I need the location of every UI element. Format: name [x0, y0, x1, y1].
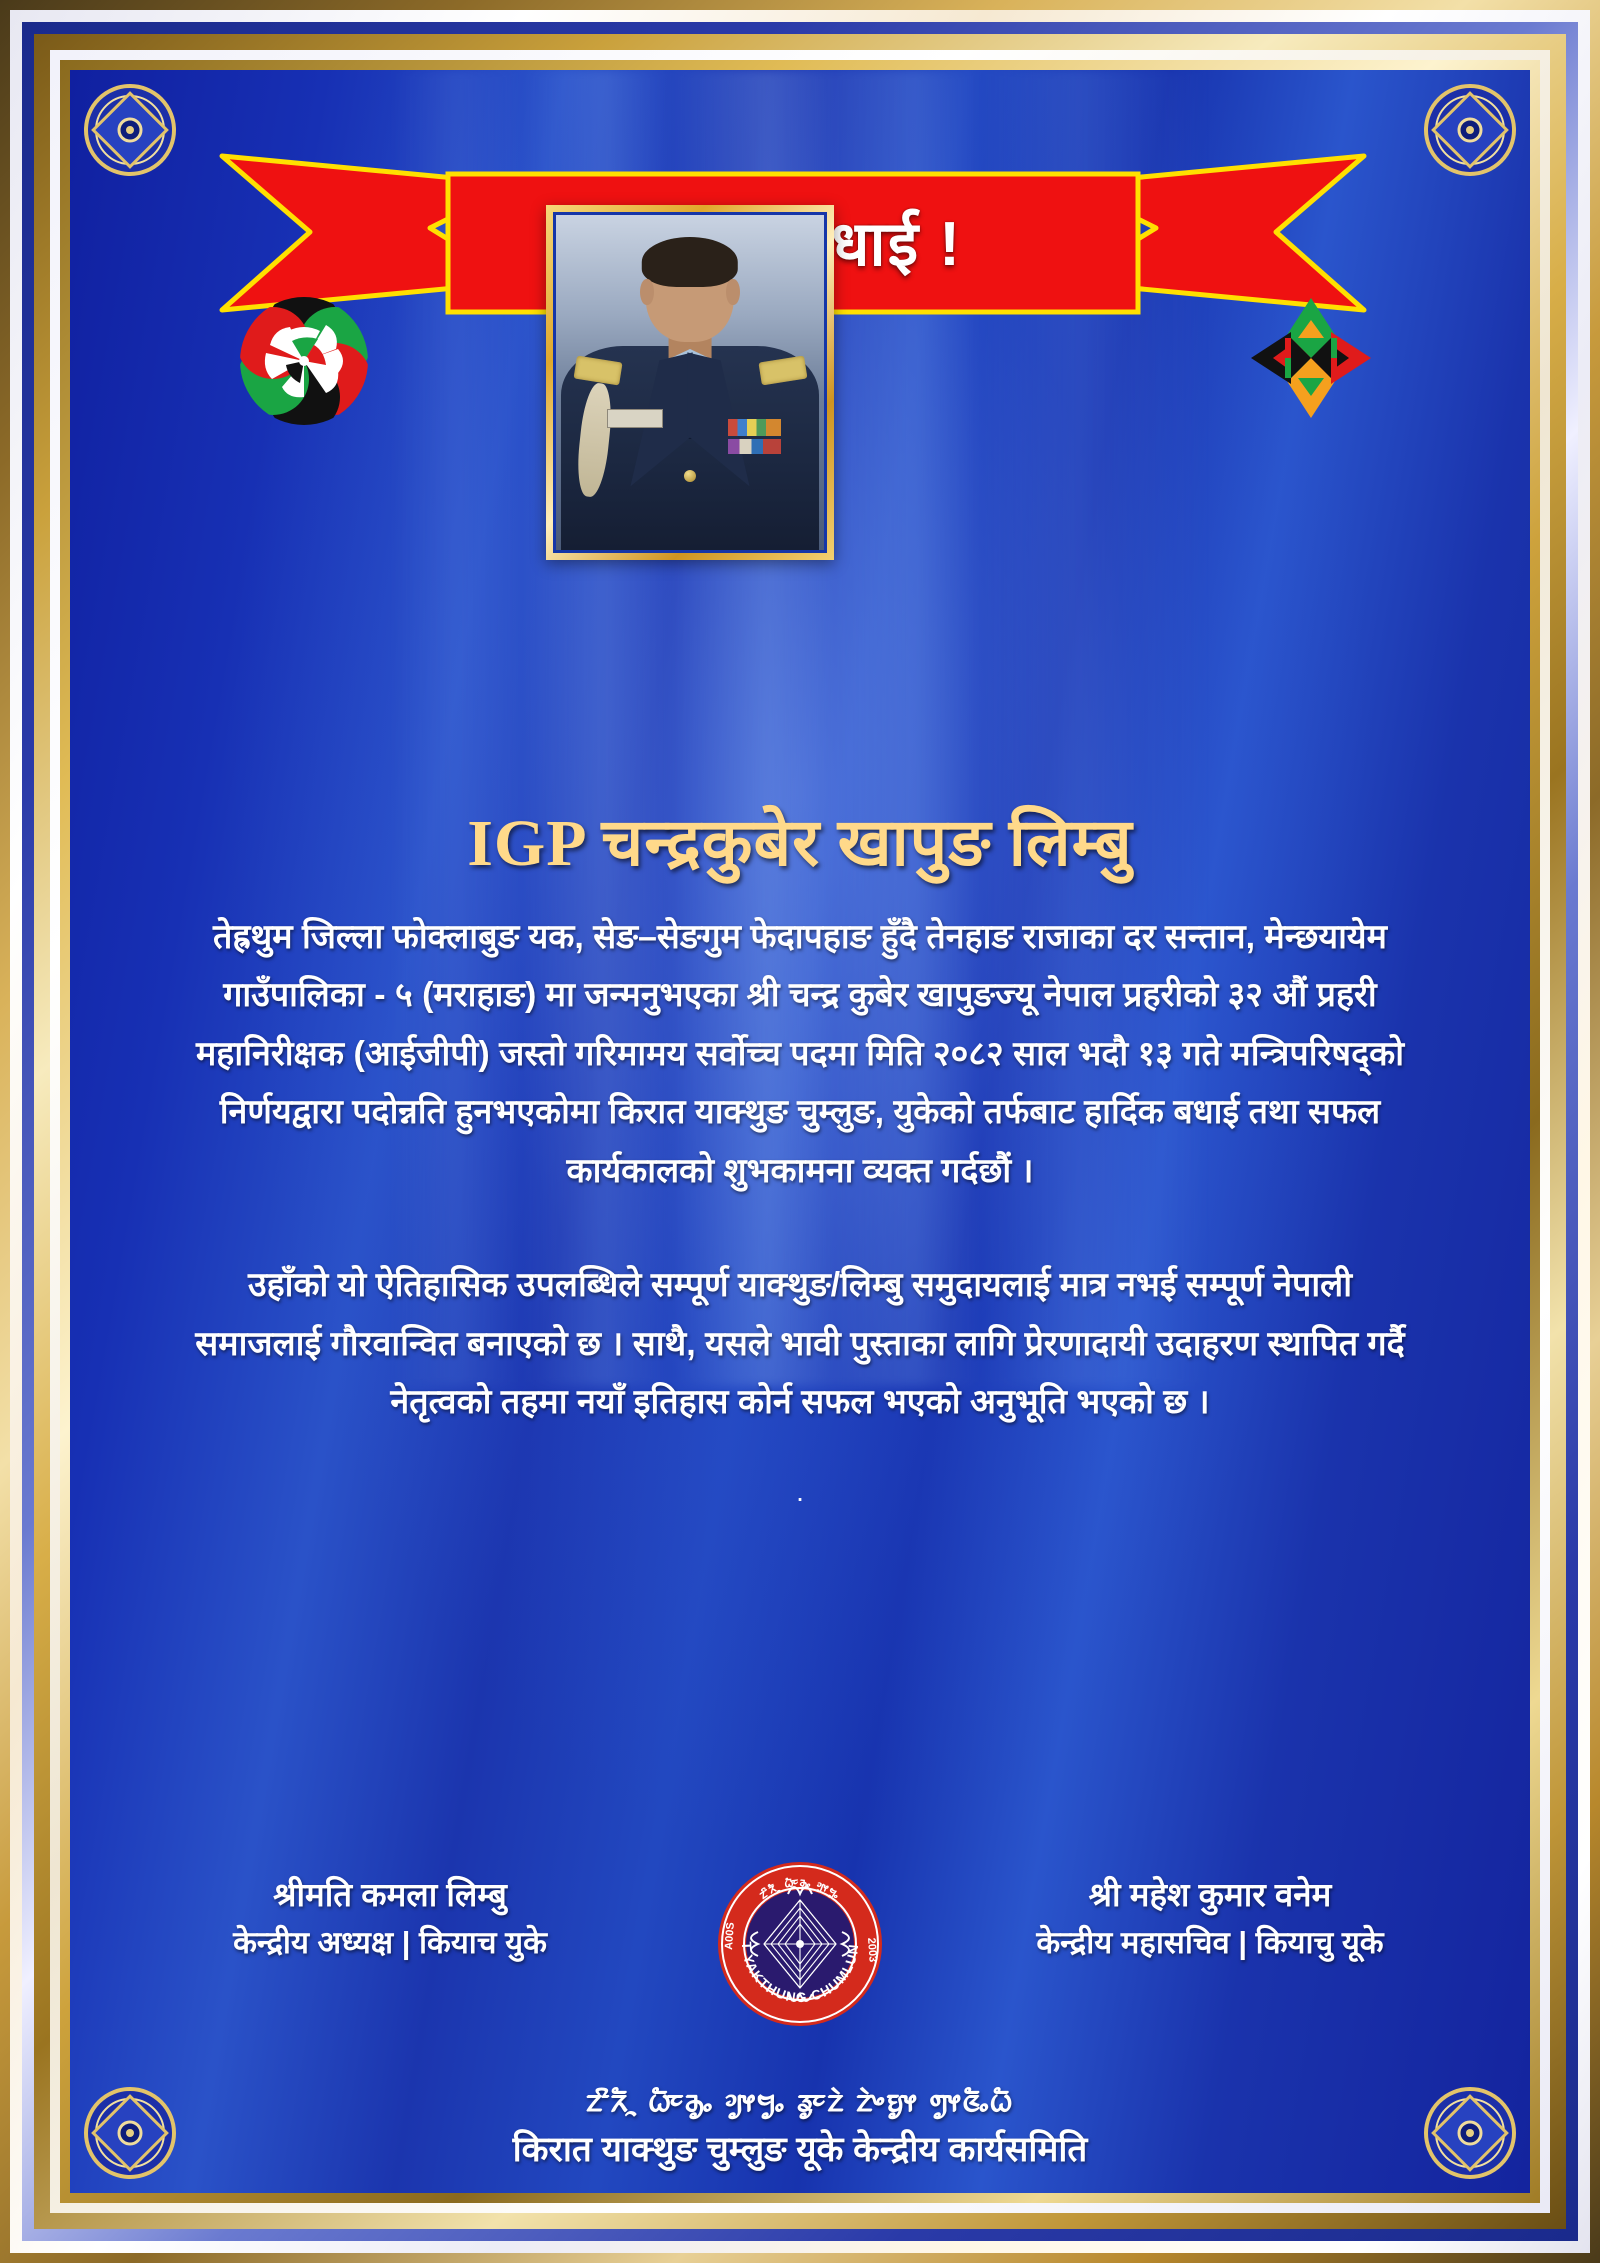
text-separator-dot: .	[188, 1476, 1412, 1508]
corner-ornament-top-left	[82, 82, 178, 178]
yakthung-star-emblem	[1245, 292, 1377, 424]
portrait-frame	[546, 205, 834, 560]
message-body: तेह्रथुम जिल्ला फोक्लाबुङ यक, सेङ–सेङगुम…	[188, 908, 1412, 1508]
congratulation-poster: हार्दिक वधाई !	[0, 0, 1600, 2263]
signatory-right: श्री महेश कुमार वनेम केन्द्रीय महासचिव |…	[1000, 1870, 1420, 1966]
footer-nepali-line: किरात याक्थुङ चुम्लुङ यूके केन्द्रीय कार…	[70, 2124, 1530, 2177]
signatory-right-name: श्री महेश कुमार वनेम	[1000, 1870, 1420, 1920]
signatory-left-name: श्रीमति कमला लिम्बु	[180, 1870, 600, 1920]
organisation-seal: ᤁᤡᤖᤠᤳ ᤐᤠᤰᤌᤢᤱ ᤆᤢᤶᤗᤢᤱ KIRAT YAKTHUNG CHUML…	[716, 1860, 884, 2028]
signatory-right-role: केन्द्रीय महासचिव | कियाचु यूके	[1000, 1920, 1420, 1967]
paragraph-2: उहाँको यो ऐतिहासिक उपलब्धिले सम्पूर्ण या…	[188, 1256, 1412, 1431]
paragraph-1: तेह्रथुम जिल्ला फोक्लाबुङ यक, सेङ–सेङगुम…	[188, 908, 1412, 1200]
signature-row: श्रीमति कमला लिम्बु केन्द्रीय अध्यक्ष | …	[160, 1870, 1440, 2070]
portrait-photo	[553, 212, 827, 553]
footer-limbu-line: ᤁᤡᤖᤠᤳ ᤐᤠᤰᤌᤢᤱ ᤆᤢᤶᤗᤢᤱ ᤕᤢᤰᤁᤧ ᤁᤧᤴᤎᤢᤶ ᤛᤢᤶᤜᤠᤱᤐ…	[70, 2076, 1530, 2124]
signatory-left: श्रीमति कमला लिम्बु केन्द्रीय अध्यक्ष | …	[180, 1870, 600, 1966]
poster-canvas: हार्दिक वधाई !	[70, 70, 1530, 2193]
kirat-rosette-emblem	[238, 295, 370, 427]
signatory-left-role: केन्द्रीय अध्यक्ष | कियाच युके	[180, 1920, 600, 1967]
page-title: IGP चन्द्रकुबेर खापुङ लिम्बु	[70, 795, 1530, 885]
seal-year-right: 2003	[865, 1937, 879, 1962]
corner-ornament-top-right	[1422, 82, 1518, 178]
footer-block: ᤁᤡᤖᤠᤳ ᤐᤠᤰᤌᤢᤱ ᤆᤢᤶᤗᤢᤱ ᤕᤢᤰᤁᤧ ᤁᤧᤴᤎᤢᤶ ᤛᤢᤶᤜᤠᤱᤐ…	[70, 2076, 1530, 2176]
seal-year-left: A00S	[723, 1922, 737, 1950]
